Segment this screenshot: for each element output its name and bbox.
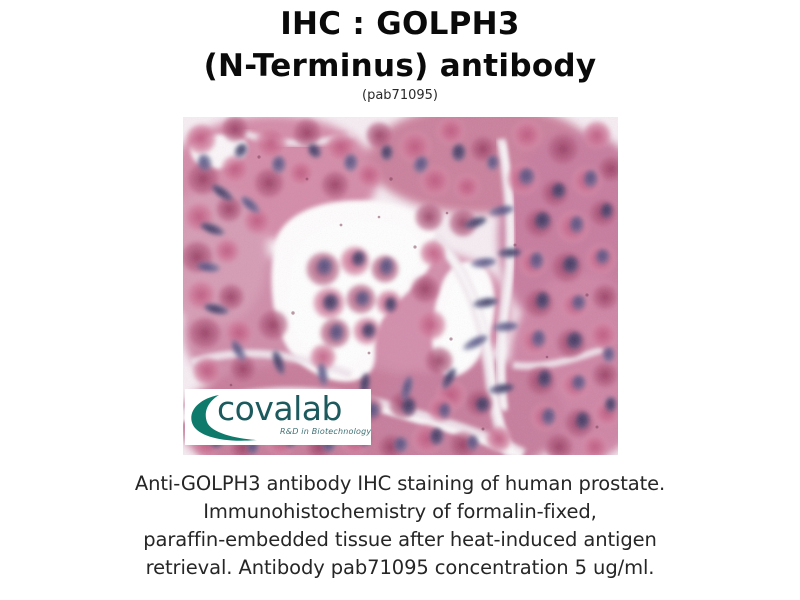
- page-title-line-2: (N-Terminus) antibody: [0, 44, 800, 86]
- covalab-wordmark: covalab: [217, 389, 342, 429]
- antibody-catalog-number: (pab71095): [0, 86, 800, 104]
- caption-line-3: paraffin-embedded tissue after heat-indu…: [0, 526, 800, 554]
- figure-caption: Anti-GOLPH3 antibody IHC staining of hum…: [0, 470, 800, 582]
- covalab-tagline: R&D in Biotechnology: [280, 427, 371, 437]
- caption-line-1: Anti-GOLPH3 antibody IHC staining of hum…: [0, 470, 800, 498]
- caption-line-2: Immunohistochemistry of formalin-fixed,: [0, 498, 800, 526]
- title-block: IHC : GOLPH3 (N-Terminus) antibody (pab7…: [0, 0, 800, 104]
- covalab-logo: covalab R&D in Biotechnology: [185, 389, 371, 445]
- caption-line-4: retrieval. Antibody pab71095 concentrati…: [0, 554, 800, 582]
- page-title-line-1: IHC : GOLPH3: [0, 0, 800, 44]
